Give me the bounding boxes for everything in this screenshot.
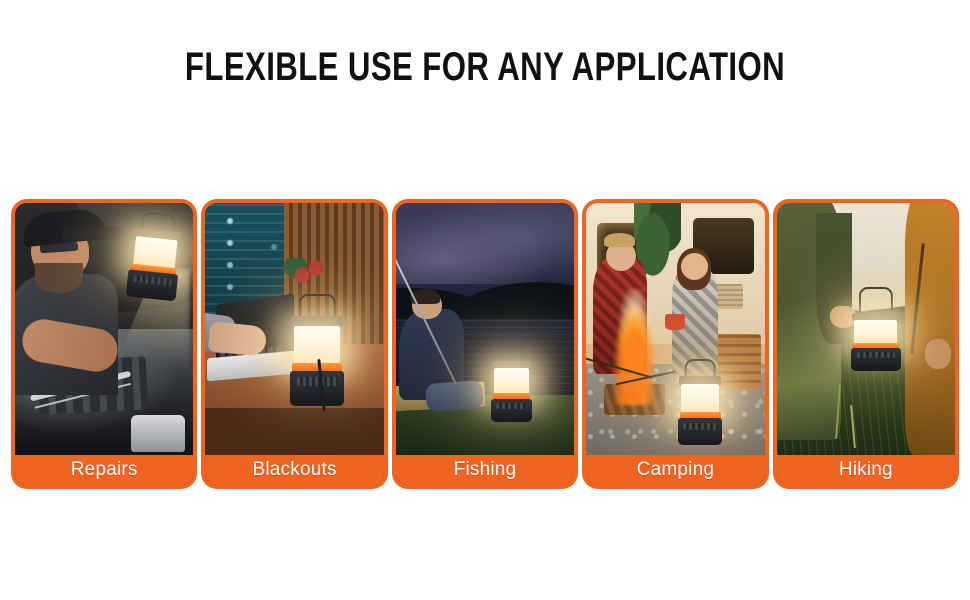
lantern-base xyxy=(126,270,178,302)
camper-woman-head-shape xyxy=(681,253,708,280)
card-label-repairs: Repairs xyxy=(71,460,138,480)
scene-repairs xyxy=(15,203,193,455)
bokeh-lights-shape xyxy=(227,218,233,224)
lantern-base xyxy=(290,371,344,406)
card-label-blackouts: Blackouts xyxy=(253,460,337,480)
card-photo-blackouts xyxy=(205,203,383,455)
lantern-base xyxy=(678,418,722,445)
scene-camping xyxy=(586,203,764,455)
application-card-list: Repairs xyxy=(11,199,959,489)
lantern-icon xyxy=(289,294,345,406)
page-title: FLEXIBLE USE FOR ANY APPLICATION xyxy=(107,44,864,90)
card-photo-camping xyxy=(586,203,764,455)
application-card-hiking[interactable]: Hiking xyxy=(773,199,959,489)
card-inner: Blackouts xyxy=(205,203,383,485)
lantern-icon xyxy=(125,211,186,302)
card-label-camping: Camping xyxy=(637,460,714,480)
hand-shape xyxy=(208,321,268,357)
mug-shape xyxy=(665,314,685,330)
card-label-band: Repairs xyxy=(15,455,193,485)
scene-hiking xyxy=(777,203,955,455)
card-inner: Repairs xyxy=(15,203,193,485)
lantern-icon xyxy=(490,346,532,422)
lantern-glow xyxy=(854,320,897,344)
card-label-hiking: Hiking xyxy=(839,460,893,480)
card-label-band: Hiking xyxy=(777,455,955,485)
lantern-glow xyxy=(681,384,719,413)
card-photo-hiking xyxy=(777,203,955,455)
card-inner: Hiking xyxy=(777,203,955,485)
lantern-glow xyxy=(494,368,528,394)
campfire-flame-shape xyxy=(608,289,662,405)
lantern-base xyxy=(491,399,531,423)
lantern-icon xyxy=(677,359,723,445)
promo-banner: FLEXIBLE USE FOR ANY APPLICATION xyxy=(0,0,970,600)
plant-shape xyxy=(284,258,330,292)
card-label-fishing: Fishing xyxy=(454,460,517,480)
card-inner: Fishing xyxy=(396,203,574,485)
card-photo-fishing xyxy=(396,203,574,455)
hiker-right-hand-shape xyxy=(925,339,951,369)
lantern-handle xyxy=(859,287,893,311)
application-card-fishing[interactable]: Fishing xyxy=(392,199,578,489)
camper-man-hair-shape xyxy=(604,233,635,247)
card-label-band: Fishing xyxy=(396,455,574,485)
card-label-band: Camping xyxy=(586,455,764,485)
card-label-band: Blackouts xyxy=(205,455,383,485)
application-card-camping[interactable]: Camping xyxy=(582,199,768,489)
application-card-blackouts[interactable]: Blackouts xyxy=(201,199,387,489)
scene-fishing xyxy=(396,203,574,455)
lantern-icon xyxy=(850,299,902,371)
application-card-repairs[interactable]: Repairs xyxy=(11,199,197,489)
card-photo-repairs xyxy=(15,203,193,455)
card-inner: Camping xyxy=(586,203,764,485)
scene-blackouts xyxy=(205,203,383,455)
lantern-base xyxy=(851,348,901,370)
